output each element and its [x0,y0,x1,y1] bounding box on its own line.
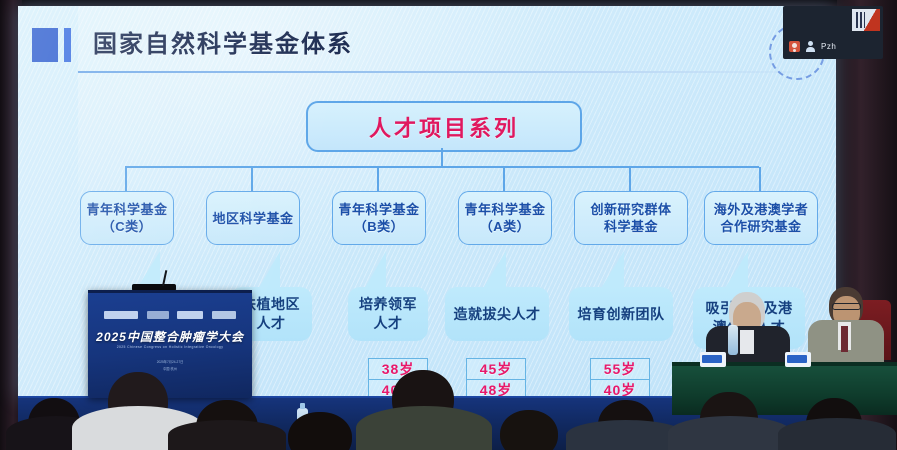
row1-node-6: 海外及港澳学者 合作研究基金 [704,191,818,245]
connector-drop-3 [377,167,379,191]
row1-node-3-line1: 青年科学基金 [338,201,419,218]
row2-node-4: 培育创新团队 [569,287,673,341]
row1-node-4: 青年科学基金 （A类） [458,191,552,245]
standing-speaker-glasses [832,303,861,310]
row2-node-2: 培养领军 人才 [348,287,428,341]
row2-node-4-line1: 培育创新团队 [578,305,665,324]
audience-body-9 [778,418,896,450]
podium-sub-title: 2025 Chinese Congress on Holistic Integr… [88,345,252,349]
participants-icon[interactable] [789,41,800,52]
camera-label: Pzh [821,42,836,51]
podium-banner: 2025中国整合肿瘤学大会 2025 Chinese Congress on H… [88,290,252,398]
slide-title: 国家自然科学基金体系 [93,28,353,62]
row1-node-5-line1: 创新研究群体 [590,201,671,218]
standing-speaker-tie [841,326,848,352]
row1-node-1: 青年科学基金 （C类） [80,191,174,245]
audience-body-8 [668,416,792,450]
connector-drop-6 [759,167,761,191]
camera-toolbar: Pzh [789,41,836,52]
connector-drop-1 [125,167,127,191]
row1-node-1-line2: （C类） [102,218,152,235]
row1-node-1-line1: 青年科学基金 [86,201,167,218]
row1-node-2: 地区科学基金 [206,191,300,245]
root-node-talent-program-series: 人才项目系列 [306,101,582,152]
audience-body-5 [356,406,492,450]
row1-node-3-line2: （B类） [354,218,404,235]
screenshot-root: 国家自然科学基金体系 人才项目系列 青年科学基金 （C类） 地区科学基金 青年科… [0,0,897,450]
connector-trunk-horizontal [125,166,759,168]
root-node-label: 人才项目系列 [369,111,519,143]
age-badge-2-top: 45岁 [467,359,525,380]
row1-node-6-line2: 合作研究基金 [720,218,801,235]
podium-sponsor-logos [104,310,236,319]
age-badge-3-top: 55岁 [591,359,649,380]
seated-speaker-shirt [740,330,754,354]
header-accent-bar-wide [32,28,58,62]
row1-node-4-line2: （A类） [480,218,530,235]
podium-location: 中国·杭州 [88,367,252,372]
person-icon[interactable] [805,41,816,52]
row1-node-5-line2: 科学基金 [604,218,658,235]
header-underline [78,71,838,73]
age-badge-3: 55岁 40岁 [590,358,650,401]
video-conference-overlay[interactable]: Pzh [783,6,883,59]
row1-node-4-line1: 青年科学基金 [464,201,545,218]
connector-drop-2 [251,167,253,191]
table-name-card-1 [700,352,726,367]
connector-drop-5 [629,167,631,191]
row1-node-3: 青年科学基金 （B类） [332,191,426,245]
age-badge-2: 45岁 48岁 [466,358,526,401]
table-name-card-2 [785,352,811,367]
connector-drop-4 [503,167,505,191]
row2-node-1-line2: 人才 [257,314,286,333]
audience-head-6 [500,410,558,450]
row2-node-2-line1: 培养领军 [359,295,417,314]
slide-header: 国家自然科学基金体系 [32,28,353,62]
podium-main-title: 2025中国整合肿瘤学大会 [88,328,252,345]
row2-node-3-line1: 造就拔尖人才 [454,305,541,324]
audience-body-3 [168,420,286,450]
camera-thumbnail [852,9,880,31]
podium-date: 2025年7月24-27日 [88,360,252,365]
header-accent-bar-thin [64,28,71,62]
row2-node-3: 造就拔尖人才 [445,287,549,341]
connector-trunk-vertical [441,148,443,167]
row1-node-5: 创新研究群体 科学基金 [574,191,688,245]
table-water-bottle [728,325,738,355]
row1-node-6-line1: 海外及港澳学者 [714,201,809,218]
row2-node-2-line2: 人才 [374,314,403,333]
row1-node-2-line1: 地区科学基金 [212,210,293,227]
